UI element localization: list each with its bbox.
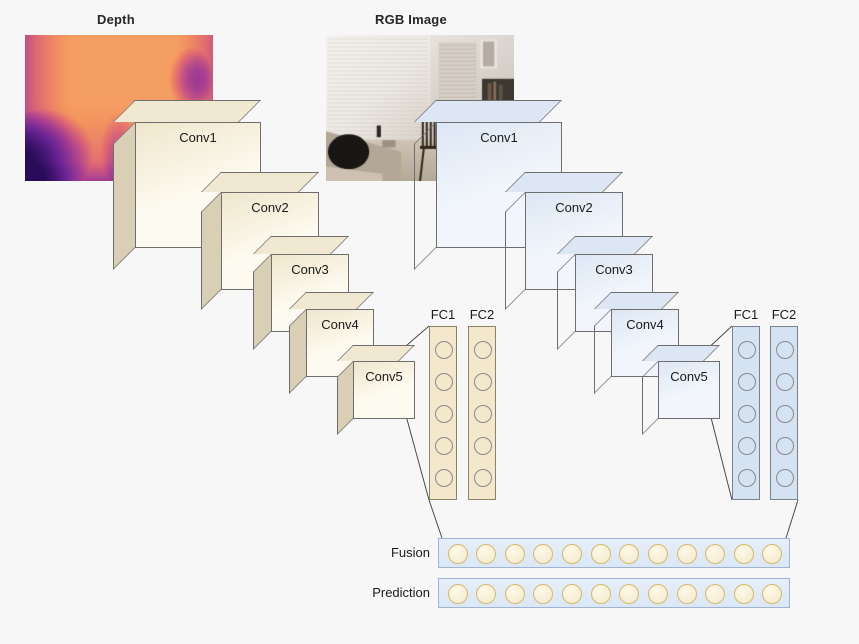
bar-node <box>505 544 525 564</box>
bar-node <box>562 544 582 564</box>
conv-label: Conv4 <box>611 317 679 332</box>
conv-label: Conv3 <box>575 262 653 277</box>
bar-node <box>705 544 725 564</box>
prediction-bar-label: Prediction <box>328 585 430 600</box>
diagram-canvas: DepthRGB ImageConv1Conv2Conv3Conv4Conv5F… <box>0 0 859 644</box>
fc-node <box>776 437 794 455</box>
depth-header: Depth <box>97 12 135 27</box>
bar-node <box>677 544 697 564</box>
bar-node <box>562 584 582 604</box>
fc-node <box>435 341 453 359</box>
fc-node <box>776 373 794 391</box>
cube-side-face <box>594 309 611 394</box>
cube-top-face <box>337 345 415 361</box>
cube-top-face <box>505 172 623 192</box>
bar-node <box>705 584 725 604</box>
rgb-branch-fc2 <box>770 326 798 500</box>
bar-node <box>591 544 611 564</box>
bar-node <box>734 584 754 604</box>
fusion-bar-label: Fusion <box>328 545 430 560</box>
cube-top-face <box>113 100 261 122</box>
conv-label: Conv1 <box>436 130 562 145</box>
fc-node <box>474 341 492 359</box>
conv-label: Conv5 <box>658 369 720 384</box>
fc-node <box>738 469 756 487</box>
cube-side-face <box>253 254 271 350</box>
cube-top-face <box>201 172 319 192</box>
bar-node <box>476 544 496 564</box>
conv-label: Conv1 <box>135 130 261 145</box>
rgb-branch-fc2-label: FC2 <box>764 307 804 322</box>
cube-top-face <box>289 292 374 309</box>
fc-node <box>435 373 453 391</box>
bar-node <box>648 544 668 564</box>
cube-side-face <box>201 192 221 310</box>
cube-top-face <box>253 236 349 254</box>
fc-node <box>474 373 492 391</box>
bar-node <box>762 544 782 564</box>
depth-branch-fc2-label: FC2 <box>462 307 502 322</box>
conv-label: Conv2 <box>221 200 319 215</box>
bar-node <box>533 544 553 564</box>
fc-node <box>738 373 756 391</box>
fc-node <box>474 437 492 455</box>
conv-label: Conv3 <box>271 262 349 277</box>
bar-node <box>476 584 496 604</box>
conv-label: Conv4 <box>306 317 374 332</box>
prediction-bar <box>438 578 790 608</box>
cube-side-face <box>337 361 353 435</box>
bar-node <box>762 584 782 604</box>
cube-top-face <box>414 100 562 122</box>
conv-label: Conv5 <box>353 369 415 384</box>
fc-node <box>474 469 492 487</box>
cube-side-face <box>113 122 135 270</box>
fc-node <box>776 341 794 359</box>
fc-node <box>776 405 794 423</box>
bar-node <box>448 544 468 564</box>
cube-side-face <box>414 122 436 270</box>
bar-node <box>648 584 668 604</box>
fc-node <box>776 469 794 487</box>
bar-node <box>591 584 611 604</box>
depth-branch-fc1-label: FC1 <box>423 307 463 322</box>
bar-node <box>619 544 639 564</box>
bar-node <box>505 584 525 604</box>
depth-branch-fc1 <box>429 326 457 500</box>
rgb-fc-to-fusion <box>786 500 798 538</box>
cube-top-face <box>557 236 653 254</box>
depth-branch-conv5: Conv5 <box>337 345 415 419</box>
fusion-bar <box>438 538 790 568</box>
conv-label: Conv2 <box>525 200 623 215</box>
cube-top-face <box>642 345 720 361</box>
rgb-branch-fc1-label: FC1 <box>726 307 766 322</box>
bar-node <box>448 584 468 604</box>
fc-node <box>435 437 453 455</box>
fc-node <box>474 405 492 423</box>
depth-fc-to-fusion <box>429 500 442 538</box>
fc-node <box>435 469 453 487</box>
depth-branch-fc2 <box>468 326 496 500</box>
fc-node <box>738 405 756 423</box>
fc-node <box>738 341 756 359</box>
bar-node <box>734 544 754 564</box>
cube-side-face <box>289 309 306 394</box>
cube-side-face <box>642 361 658 435</box>
bar-node <box>619 584 639 604</box>
fc-node <box>738 437 756 455</box>
fc-node <box>435 405 453 423</box>
bar-node <box>677 584 697 604</box>
rgb-branch-fc1 <box>732 326 760 500</box>
cube-side-face <box>557 254 575 350</box>
cube-top-face <box>594 292 679 309</box>
bar-node <box>533 584 553 604</box>
rgb-header: RGB Image <box>375 12 447 27</box>
rgb-branch-conv5: Conv5 <box>642 345 720 419</box>
cube-side-face <box>505 192 525 310</box>
